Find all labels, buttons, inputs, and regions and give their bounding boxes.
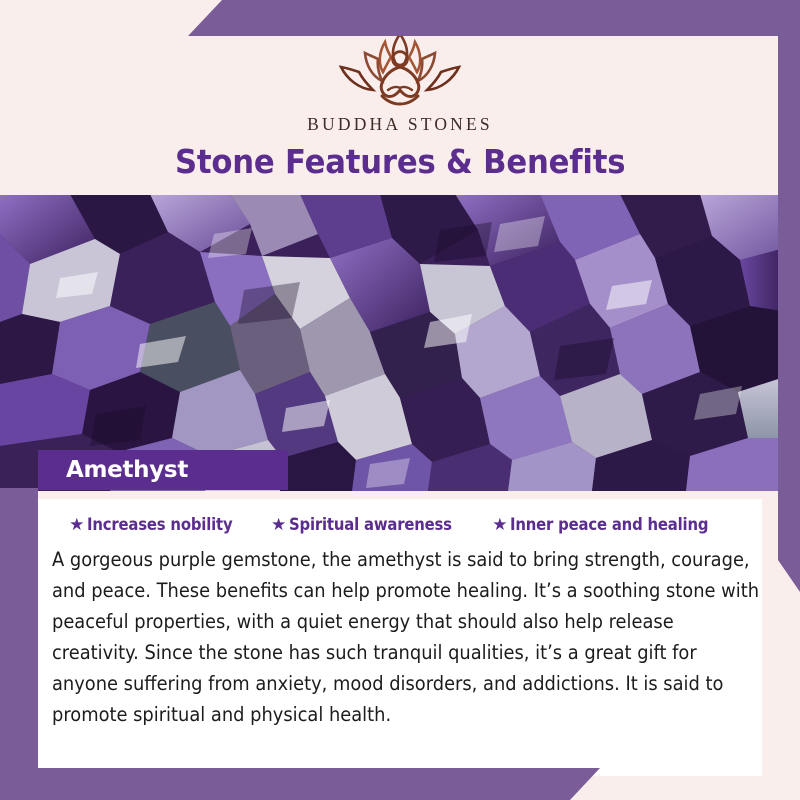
amethyst-photo [0, 194, 800, 491]
content-panel: ★ Increases nobility ★ Spiritual awarene… [38, 499, 762, 776]
frame-band-left [0, 488, 38, 800]
benefit-label: Increases nobility [87, 515, 232, 534]
benefit-item-1: ★ Increases nobility [69, 515, 249, 534]
stone-info-card: BUDDHA STONES Stone Features & Benefits [0, 0, 800, 800]
star-icon: ★ [271, 516, 286, 533]
frame-band-right [778, 0, 800, 592]
benefits-list: ★ Increases nobility ★ Spiritual awarene… [38, 499, 762, 534]
stone-name-banner: Amethyst [38, 450, 288, 490]
star-icon: ★ [69, 516, 84, 533]
star-icon: ★ [492, 516, 507, 533]
benefit-label: Inner peace and healing [510, 515, 708, 534]
title-band: Stone Features & Benefits [0, 142, 800, 181]
brand-name: BUDDHA STONES [0, 114, 800, 135]
benefit-item-2: ★ Spiritual awareness [271, 515, 470, 534]
stone-description: A gorgeous purple gemstone, the amethyst… [52, 544, 766, 730]
benefit-item-3: ★ Inner peace and healing [492, 515, 731, 534]
brand-logo: BUDDHA STONES [0, 26, 800, 135]
amethyst-crystal-cluster-illustration [0, 194, 800, 491]
benefit-label: Spiritual awareness [289, 515, 452, 534]
page-title: Stone Features & Benefits [175, 142, 625, 181]
lotus-meditation-figure-icon [325, 26, 475, 112]
stone-name: Amethyst [66, 457, 188, 483]
